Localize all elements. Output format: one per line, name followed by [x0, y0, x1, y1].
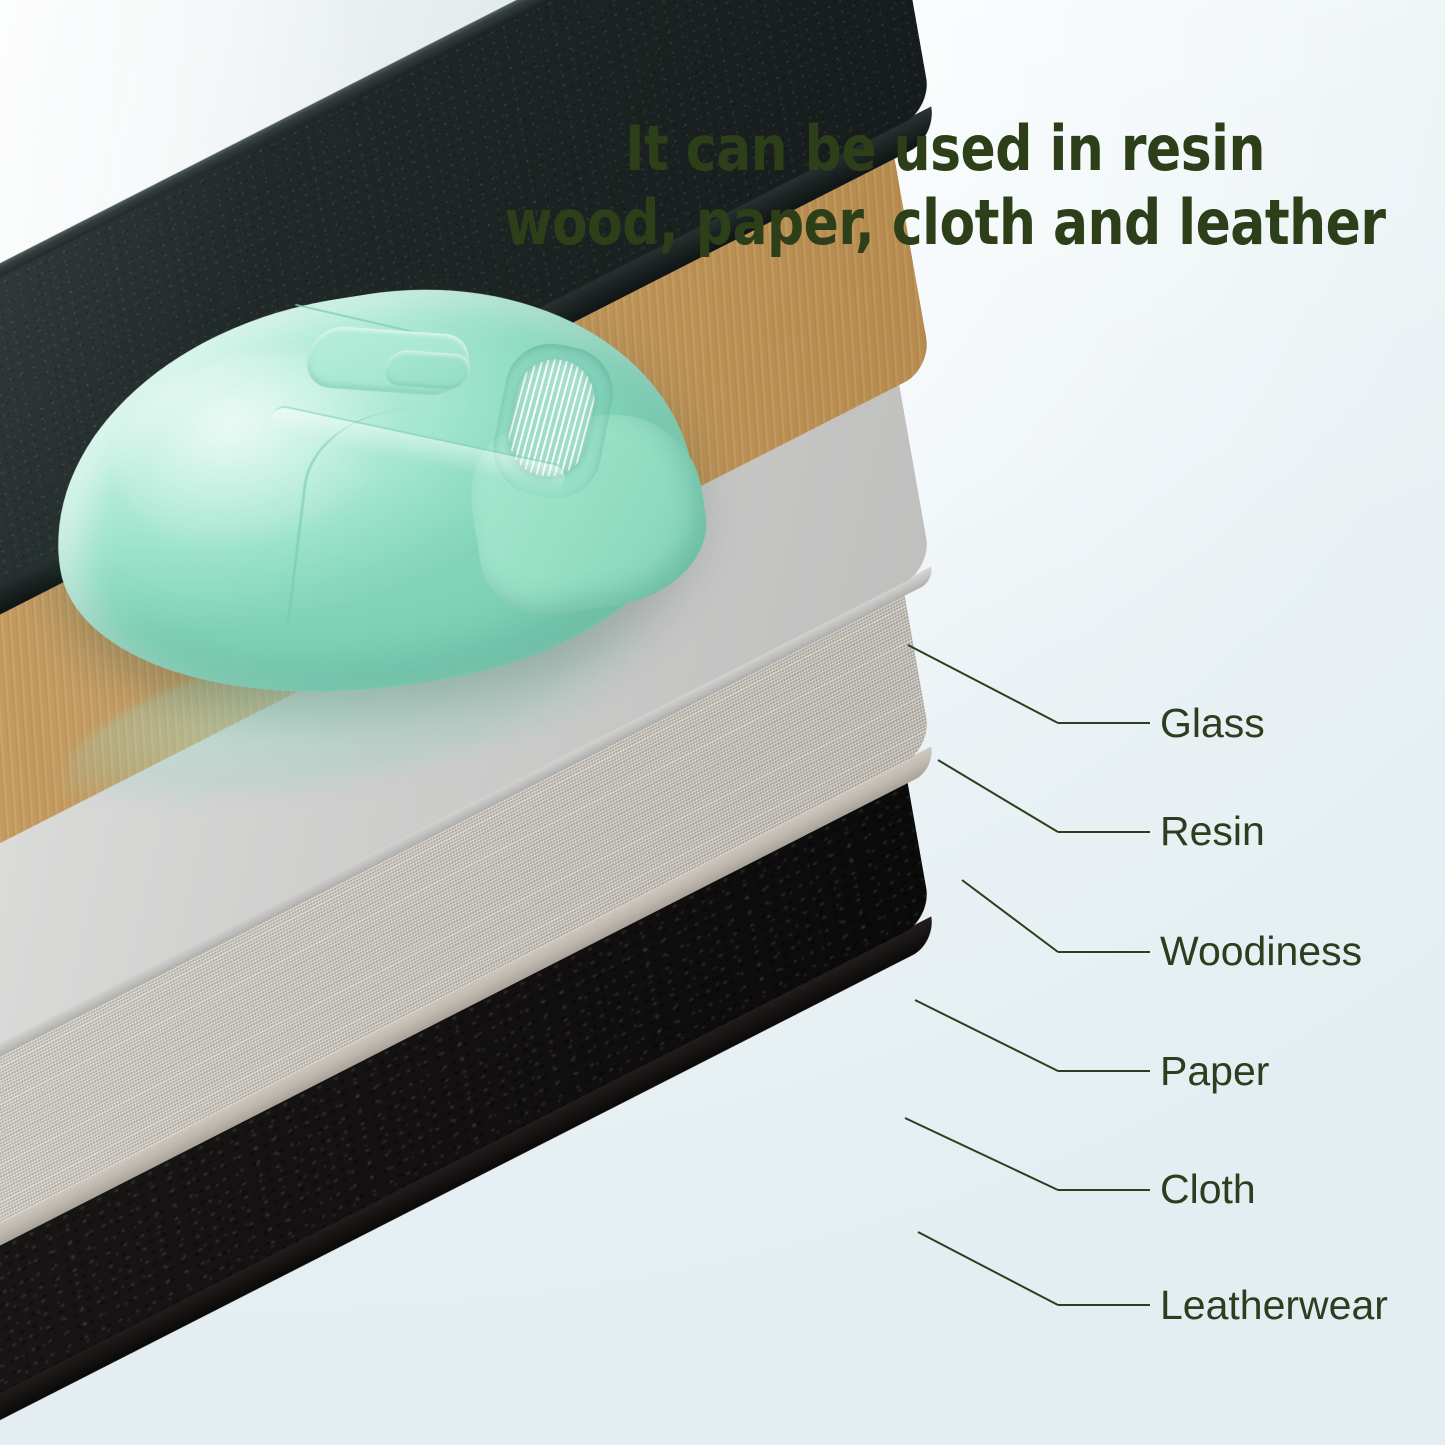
- leader-line-diagonal-resin: [938, 760, 1058, 832]
- leader-line-diagonal-paper: [915, 1000, 1058, 1071]
- infographic-canvas: It can be used in resin wood, paper, clo…: [0, 0, 1445, 1445]
- callout-label-glass: Glass: [1160, 700, 1265, 746]
- leader-line-diagonal-leatherwear: [918, 1232, 1058, 1305]
- callout-group: GlassResinWoodinessPaperClothLeatherwear: [0, 0, 1445, 1445]
- leader-line-diagonal-cloth: [905, 1118, 1058, 1190]
- leader-line-diagonal-woodiness: [962, 880, 1058, 952]
- callout-label-resin: Resin: [1160, 808, 1265, 854]
- leader-line-diagonal-glass: [908, 645, 1058, 723]
- callout-label-woodiness: Woodiness: [1160, 928, 1362, 974]
- callout-label-leatherwear: Leatherwear: [1160, 1282, 1388, 1328]
- callout-label-paper: Paper: [1160, 1048, 1269, 1094]
- callout-label-cloth: Cloth: [1160, 1166, 1256, 1212]
